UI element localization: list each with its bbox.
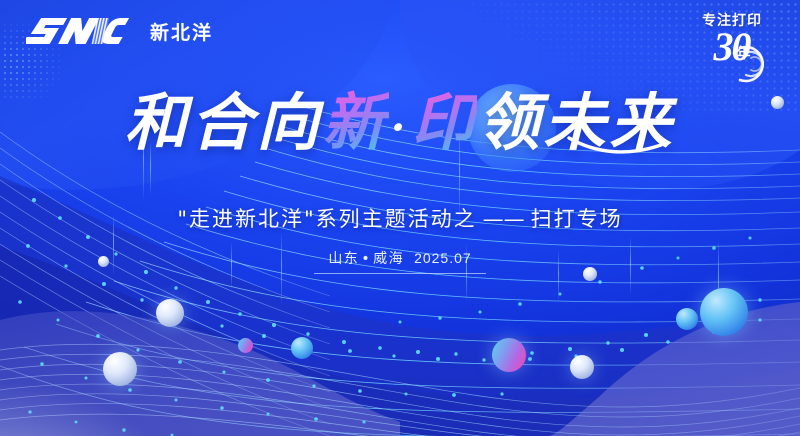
brand-logo: 新北洋: [26, 14, 213, 48]
dateline-separator: •: [359, 251, 373, 267]
sphere-pink-large: [492, 338, 526, 372]
event-banner: 新北洋 专注打印 30 年 和合向新·印领未来 "走进新北洋"系列主题活动之——…: [0, 0, 800, 436]
title-segment-yin: 印: [411, 86, 477, 159]
subtitle-quoted: "走进新北洋": [177, 207, 315, 231]
sphere-white-right: [570, 355, 594, 379]
sphere-blue-big: [700, 288, 748, 336]
badge-arc-icon: [730, 44, 776, 84]
subtitle-tail: 扫打专场: [531, 207, 623, 231]
sphere-blue-small: [676, 308, 698, 330]
sphere-pink-small: [238, 338, 253, 353]
dateline-city: 威海: [373, 251, 404, 267]
sphere-white-lower: [103, 352, 137, 386]
title-block: 和合向新·印领未来: [0, 92, 800, 154]
title-swash-icon: [567, 132, 663, 158]
subtitle-middle: 系列主题活动之: [316, 207, 477, 231]
subtitle-dash: ——: [477, 207, 531, 231]
dateline-province: 山东: [328, 251, 359, 267]
brand-logo-cn-label: 新北洋: [150, 18, 213, 45]
title-segment-1: 和合向: [125, 86, 323, 159]
main-title: 和合向新·印领未来: [125, 92, 676, 154]
subtitle: "走进新北洋"系列主题活动之——扫打专场: [0, 203, 800, 233]
dateline-date: 2025.07: [414, 250, 472, 266]
sphere-cyan-small: [291, 337, 313, 359]
dateline-inner: 山东•威海2025.07: [314, 248, 485, 274]
title-separator-dot: ·: [389, 103, 412, 152]
dateline: 山东•威海2025.07: [0, 248, 800, 274]
sphere-white-mid: [156, 299, 184, 327]
title-segment-new: 新: [323, 86, 389, 159]
snbc-logo-icon: [26, 14, 138, 48]
